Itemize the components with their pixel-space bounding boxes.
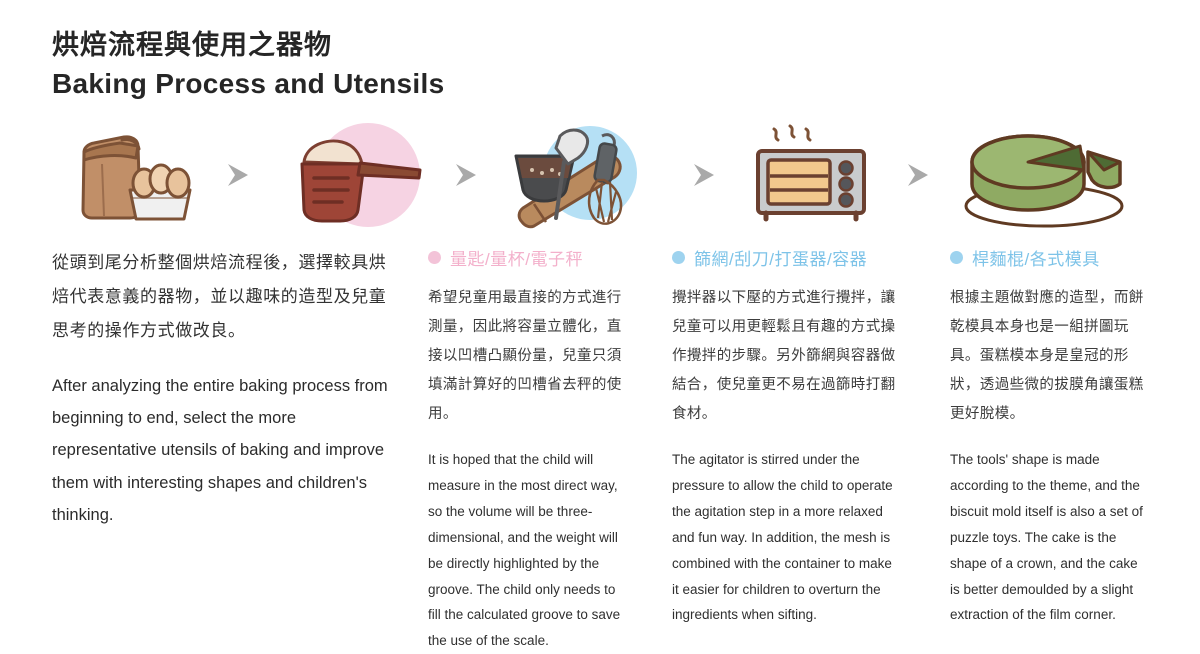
flow-step-ingredients [62,118,222,233]
mixing-paragraph-chinese: 攪拌器以下壓的方式進行攪拌，讓兒童可以用更輕鬆且有趣的方式操作攪拌的步驟。另外篩… [672,284,900,429]
flow-arrow-2 [450,162,482,188]
page-title-chinese: 烘焙流程與使用之器物 [52,28,444,63]
blue-bullet-icon [672,251,685,264]
sieve-spatula-whisk-rollingpin-icon [498,118,668,233]
flow-arrow-4 [902,162,934,188]
column-molds-title: 桿麵棍/各式模具 [972,245,1100,270]
column-measuring-header: 量匙/量杯/電子秤 [428,246,628,268]
measuring-paragraph-chinese: 希望兒童用最直接的方式進行測量，因此將容量立體化，直接以凹槽凸顯份量，兒童只須填… [428,284,628,429]
flow-step-mixing [498,118,658,233]
chevron-right-arrow-icon [222,162,254,188]
column-mixing-header: 篩網/刮刀/打蛋器/容器 [672,246,900,268]
intro-paragraph-chinese: 從頭到尾分析整個烘焙流程後，選擇較具烘焙代表意義的器物，並以趣味的造型及兒童思考… [52,246,397,348]
column-measuring: 量匙/量杯/電子秤 希望兒童用最直接的方式進行測量，因此將容量立體化，直接以凹槽… [428,246,628,654]
process-flow-strip [52,118,1162,233]
page-title: 烘焙流程與使用之器物 Baking Process and Utensils [52,28,444,103]
poster-page: 烘焙流程與使用之器物 Baking Process and Utensils [0,0,1200,651]
flow-arrow-3 [688,162,720,188]
page-title-english: Baking Process and Utensils [52,65,444,103]
flow-step-baking [740,118,900,233]
measuring-cup-icon [270,118,430,233]
molds-paragraph-english: The tools' shape is made according to th… [950,447,1150,628]
flow-step-finished [952,118,1152,233]
blue-bullet-icon [950,251,963,264]
flow-step-measuring [270,118,430,233]
column-mixing: 篩網/刮刀/打蛋器/容器 攪拌器以下壓的方式進行攪拌，讓兒童可以用更輕鬆且有趣的… [672,246,900,628]
mixing-paragraph-english: The agitator is stirred under the pressu… [672,447,900,628]
pink-bullet-icon [428,251,441,264]
column-mixing-title: 篩網/刮刀/打蛋器/容器 [694,245,867,270]
column-molds: 桿麵棍/各式模具 根據主題做對應的造型，而餅乾模具本身也是一組拼圖玩具。蛋糕模本… [950,246,1150,628]
chevron-right-arrow-icon [450,162,482,188]
chevron-right-arrow-icon [688,162,720,188]
flow-arrow-1 [222,162,254,188]
measuring-paragraph-english: It is hoped that the child will measure … [428,447,628,654]
intro-paragraph-english: After analyzing the entire baking proces… [52,370,397,531]
chevron-right-arrow-icon [902,162,934,188]
molds-paragraph-chinese: 根據主題做對應的造型，而餅乾模具本身也是一組拼圖玩具。蛋糕模本身是皇冠的形狀，透… [950,284,1150,429]
column-intro: 從頭到尾分析整個烘焙流程後，選擇較具烘焙代表意義的器物，並以趣味的造型及兒童思考… [52,246,397,531]
cake-slice-icon [952,118,1152,233]
oven-icon [740,118,900,233]
flour-bag-and-eggs-icon [62,118,222,233]
column-molds-header: 桿麵棍/各式模具 [950,246,1150,268]
column-measuring-title: 量匙/量杯/電子秤 [450,245,583,270]
